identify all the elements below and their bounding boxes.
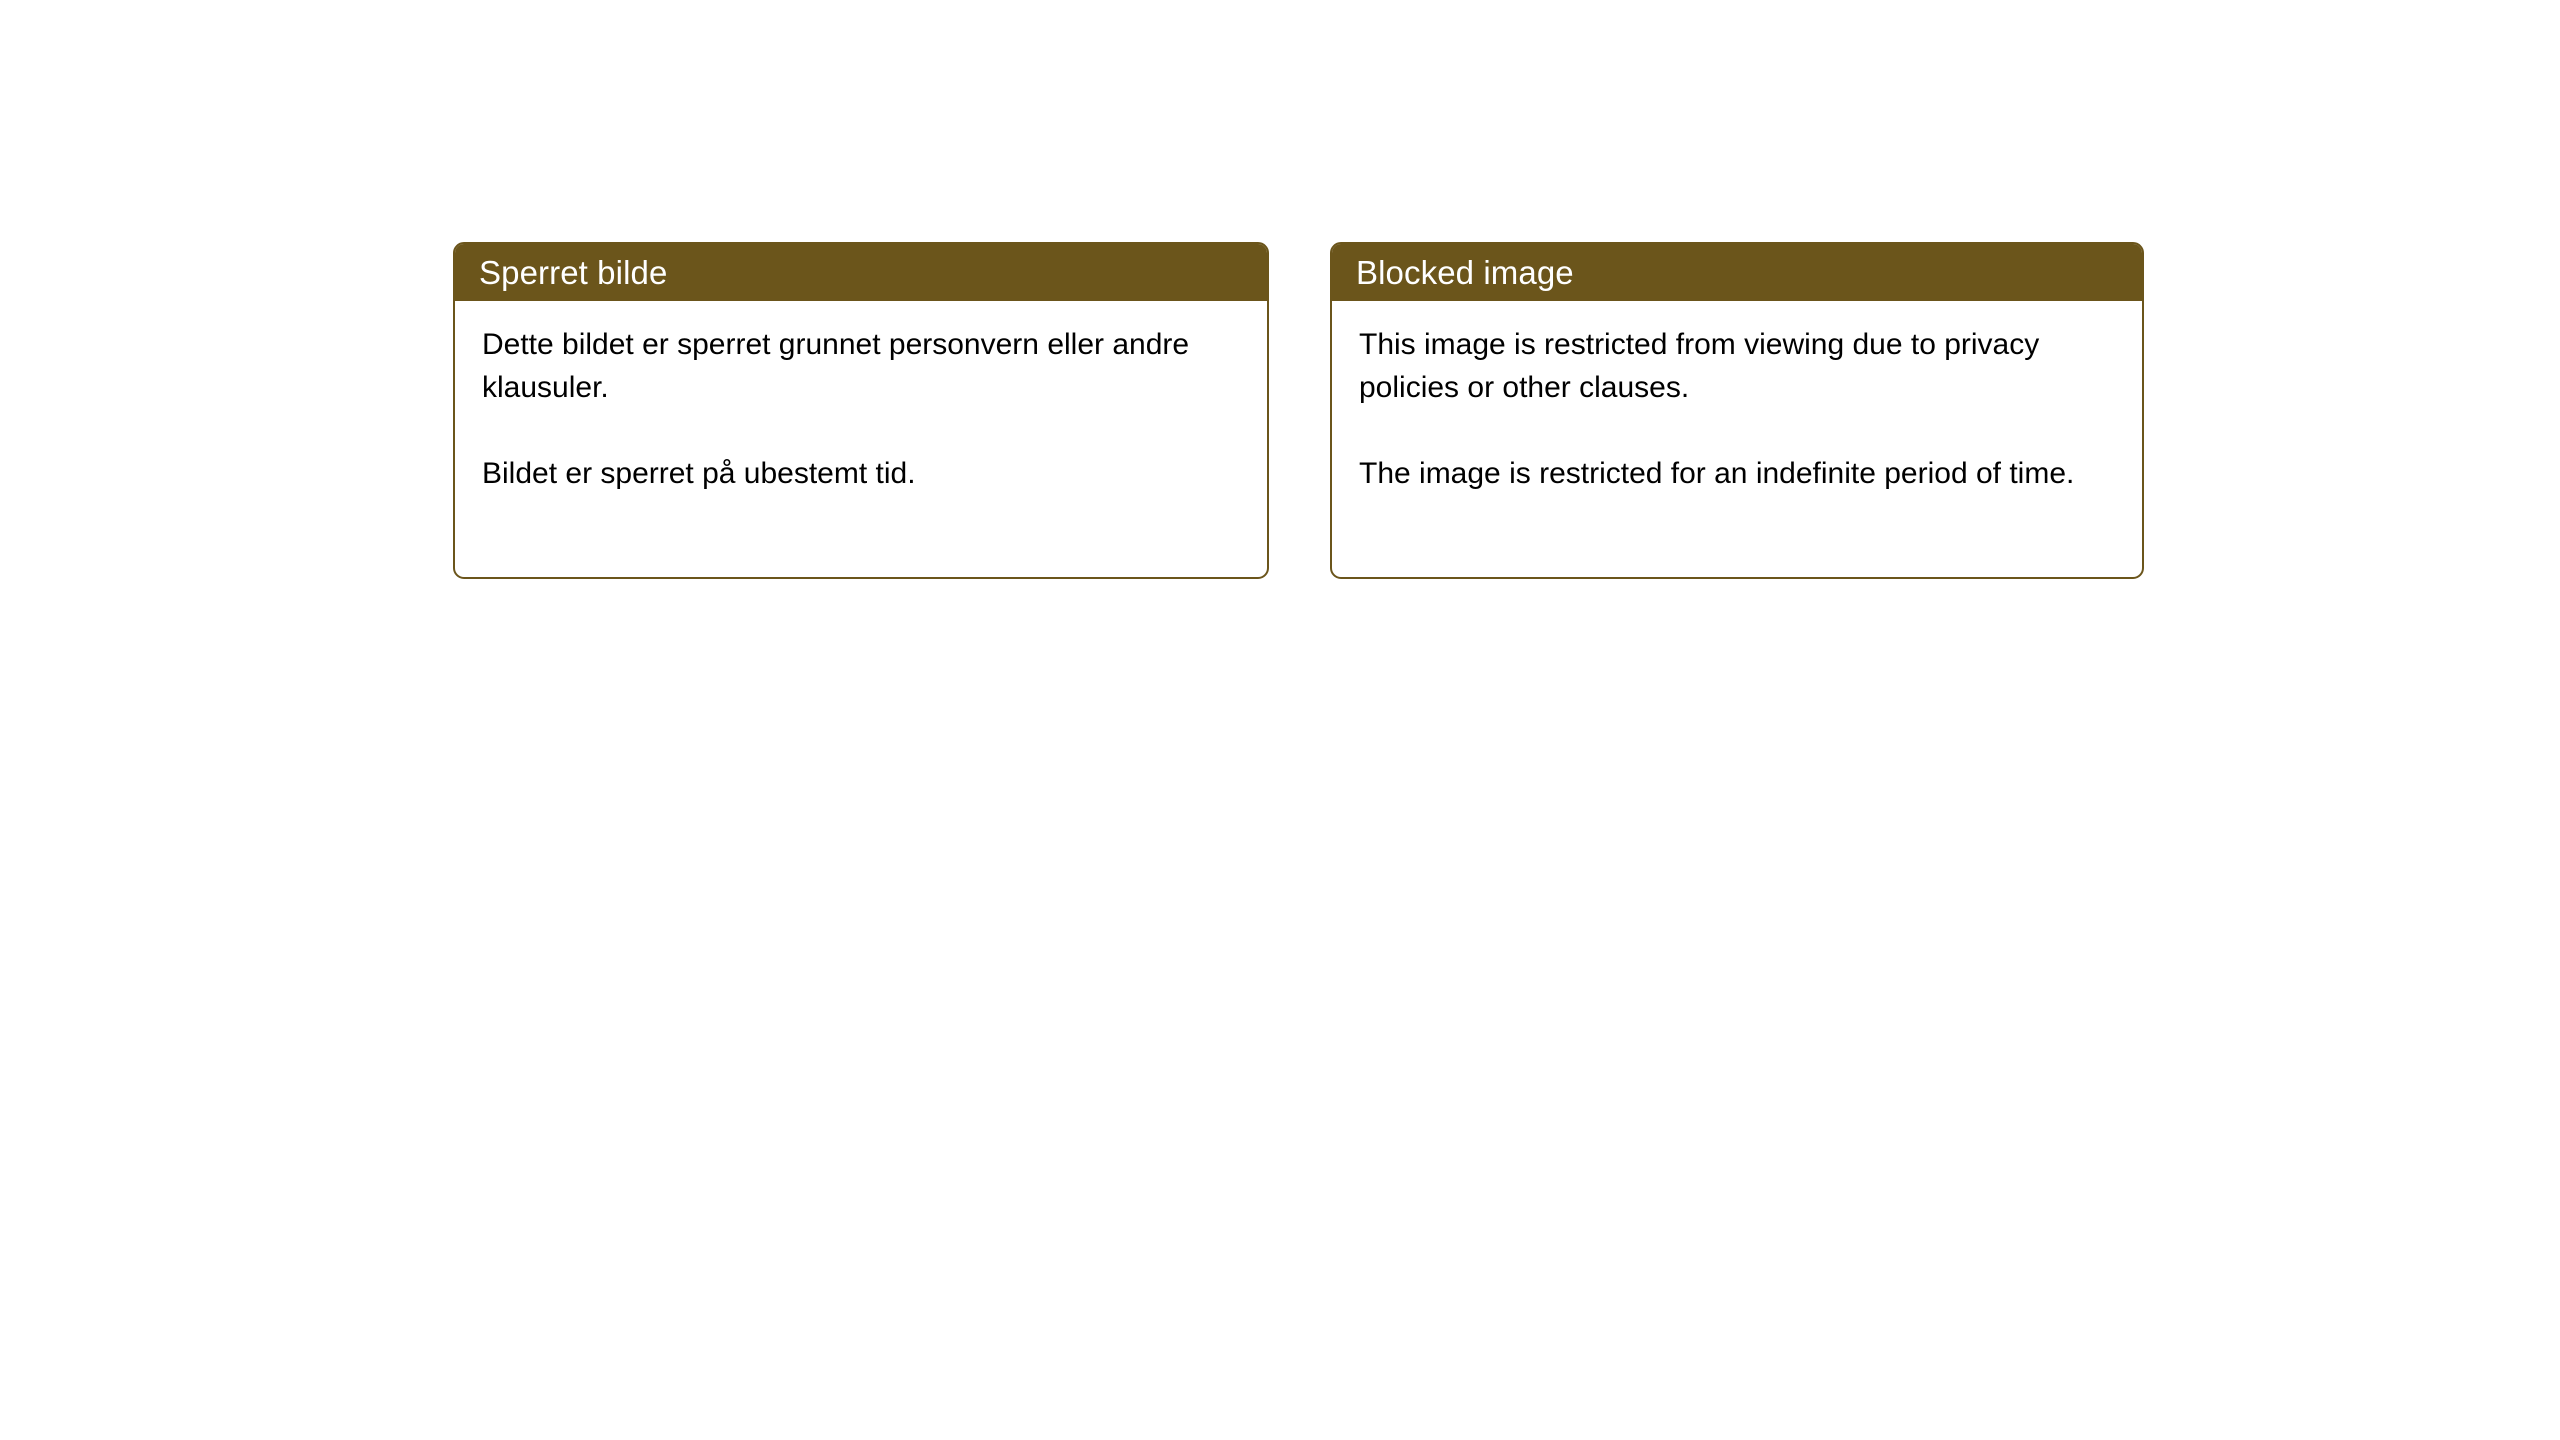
card-header-norwegian: Sperret bilde <box>455 244 1267 301</box>
card-header-english: Blocked image <box>1332 244 2142 301</box>
card-paragraph-reason-english: This image is restricted from viewing du… <box>1359 323 2116 409</box>
card-paragraph-duration-english: The image is restricted for an indefinit… <box>1359 452 2116 495</box>
blocked-image-notice-card-norwegian: Sperret bilde Dette bildet er sperret gr… <box>453 242 1269 579</box>
card-body-norwegian: Dette bildet er sperret grunnet personve… <box>455 301 1267 495</box>
card-paragraph-reason-norwegian: Dette bildet er sperret grunnet personve… <box>482 323 1241 409</box>
card-body-english: This image is restricted from viewing du… <box>1332 301 2142 495</box>
card-paragraph-duration-norwegian: Bildet er sperret på ubestemt tid. <box>482 452 1241 495</box>
blocked-image-notice-card-english: Blocked image This image is restricted f… <box>1330 242 2144 579</box>
card-title-english: Blocked image <box>1356 256 1574 289</box>
card-title-norwegian: Sperret bilde <box>479 256 667 289</box>
page-canvas: Sperret bilde Dette bildet er sperret gr… <box>0 0 2560 1440</box>
